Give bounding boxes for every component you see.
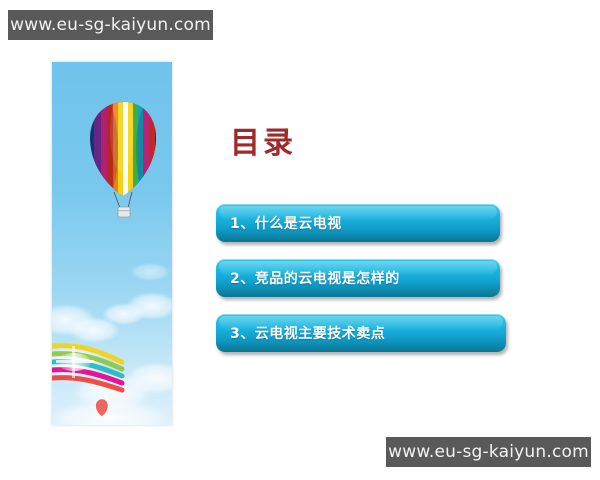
agenda-item-1-label: 1、什么是云电视 — [216, 213, 342, 233]
hot-air-balloon-image — [52, 62, 172, 425]
agenda-item-3-label: 3、云电视主要技术卖点 — [216, 323, 385, 343]
agenda-list: 1、什么是云电视 2、竞品的云电视是怎样的 3、云电视主要技术卖点 — [216, 204, 508, 369]
watermark-bottom: www.eu-sg-kaiyun.com — [386, 437, 591, 467]
slide-canvas: www.eu-sg-kaiyun.com — [0, 0, 600, 480]
watermark-top: www.eu-sg-kaiyun.com — [8, 10, 213, 40]
agenda-item-2[interactable]: 2、竞品的云电视是怎样的 — [216, 259, 500, 297]
agenda-item-3[interactable]: 3、云电视主要技术卖点 — [216, 314, 506, 352]
page-title: 目录 — [230, 127, 296, 160]
agenda-item-1[interactable]: 1、什么是云电视 — [216, 204, 500, 242]
agenda-item-2-label: 2、竞品的云电视是怎样的 — [216, 268, 400, 288]
